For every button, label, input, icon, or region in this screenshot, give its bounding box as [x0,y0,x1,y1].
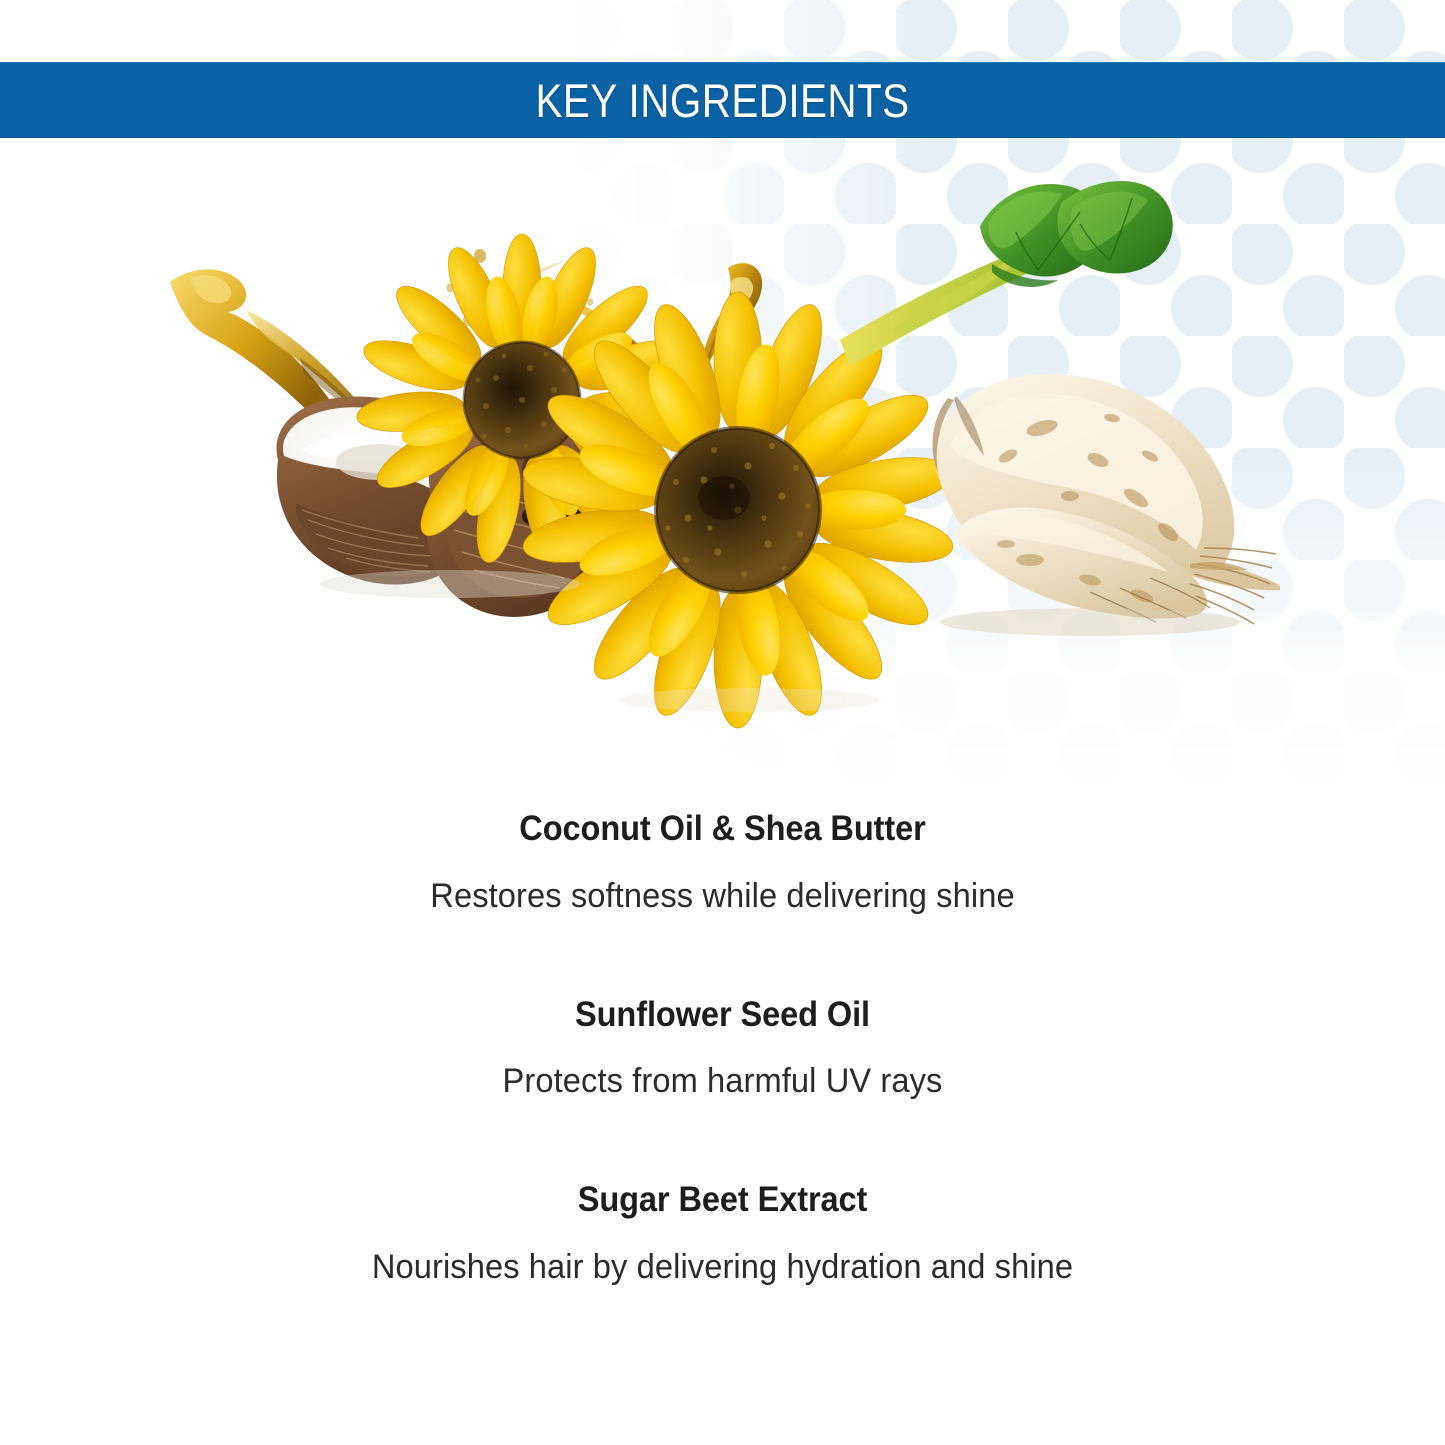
sugar-beet [933,374,1280,636]
ingredient-description: Restores softness while delivering shine [29,874,1416,918]
ingredient-description: Nourishes hair by delivering hydration a… [29,1245,1416,1289]
sugar-beet-leaves [840,181,1173,366]
header-bar: KEY INGREDIENTS [0,62,1445,138]
ingredient-item: Sugar Beet Extract Nourishes hair by del… [0,1177,1445,1289]
ingredient-list: Coconut Oil & Shea Butter Restores softn… [0,806,1445,1289]
ingredient-name: Coconut Oil & Shea Butter [51,806,1395,852]
key-ingredients-infographic: KEY INGREDIENTS [0,0,1445,1445]
ingredient-item: Coconut Oil & Shea Butter Restores softn… [0,806,1445,918]
ingredient-item: Sunflower Seed Oil Protects from harmful… [0,992,1445,1104]
ingredient-description: Protects from harmful UV rays [29,1059,1416,1103]
ingredient-name: Sugar Beet Extract [51,1177,1395,1223]
hero-ingredient-image [150,160,1280,760]
ingredient-name: Sunflower Seed Oil [51,992,1395,1038]
page-title: KEY INGREDIENTS [535,73,909,128]
